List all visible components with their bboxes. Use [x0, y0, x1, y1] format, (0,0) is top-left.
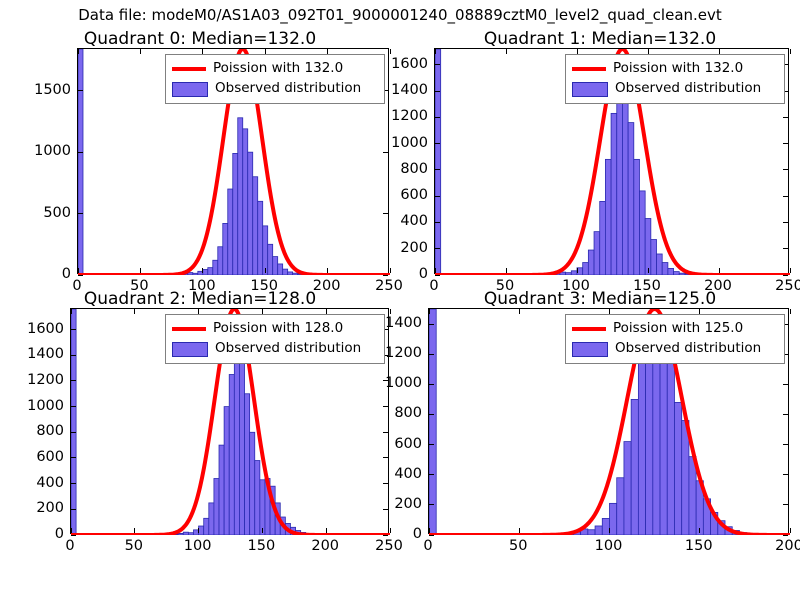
- y-tick-mark: [71, 483, 76, 484]
- x-tick-mark: [390, 309, 391, 314]
- histogram-bar: [651, 240, 657, 275]
- y-tick-mark: [783, 143, 788, 144]
- y-tick-label: 0: [370, 526, 422, 542]
- x-tick-label: 0: [72, 278, 81, 294]
- histogram-bar: [668, 268, 674, 275]
- y-tick-label: 1400: [12, 346, 64, 362]
- histogram-bar: [71, 309, 76, 535]
- histogram-bar: [577, 268, 583, 275]
- x-tick-mark: [506, 49, 507, 54]
- histogram-bar: [566, 273, 572, 275]
- y-tick-mark: [435, 64, 440, 65]
- y-tick-mark: [383, 483, 388, 484]
- y-tick-label: 1000: [12, 398, 64, 414]
- y-tick-mark: [71, 535, 76, 536]
- histogram-bar: [667, 347, 674, 535]
- histogram-bar: [610, 503, 617, 535]
- x-tick-mark: [577, 268, 578, 273]
- y-tick-mark: [78, 152, 83, 153]
- legend-entry-poisson: Poission with 132.0: [172, 59, 377, 79]
- x-tick-label: 150: [250, 278, 278, 294]
- legend-line-icon: [172, 62, 206, 76]
- legend-entry-observed: Observed distribution: [572, 339, 777, 359]
- histogram-bar: [288, 272, 293, 275]
- histogram-bar: [645, 219, 651, 276]
- histogram-bar: [188, 533, 193, 535]
- histogram-bar: [188, 273, 193, 275]
- legend-line-icon: [572, 322, 606, 336]
- x-tick-mark: [71, 309, 72, 314]
- y-tick-label: 200: [370, 496, 422, 512]
- histogram-bar: [223, 223, 228, 275]
- histogram-bar: [178, 533, 183, 535]
- x-tick-label: 50: [125, 538, 143, 554]
- y-tick-mark: [435, 143, 440, 144]
- legend-label-poisson: Poission with 132.0: [613, 62, 743, 76]
- y-tick-mark: [783, 196, 788, 197]
- histogram-bar: [243, 129, 248, 275]
- histogram-bar: [228, 189, 233, 275]
- x-tick-mark: [202, 268, 203, 273]
- legend-quadrant-3[interactable]: Poission with 125.0Observed distribution: [565, 314, 785, 364]
- histogram-bar: [600, 201, 606, 275]
- y-tick-mark: [429, 414, 434, 415]
- y-tick-label: 500: [19, 205, 71, 221]
- y-tick-label: 1600: [12, 321, 64, 337]
- x-tick-label: 200: [704, 278, 732, 294]
- y-tick-mark: [783, 444, 788, 445]
- x-tick-mark: [699, 528, 700, 533]
- histogram-bar: [679, 273, 685, 275]
- x-tick-mark: [790, 528, 791, 533]
- legend-quadrant-2[interactable]: Poission with 128.0Observed distribution: [165, 314, 385, 364]
- x-tick-mark: [134, 309, 135, 314]
- legend-entry-observed: Observed distribution: [172, 79, 377, 99]
- y-tick-mark: [435, 248, 440, 249]
- histogram-bar: [193, 273, 198, 275]
- y-tick-mark: [71, 406, 76, 407]
- histogram-bar: [255, 461, 260, 535]
- legend-line-icon: [572, 62, 606, 76]
- histogram-bar: [78, 49, 83, 275]
- y-tick-mark: [429, 354, 434, 355]
- y-tick-mark: [783, 474, 788, 475]
- x-tick-mark: [519, 528, 520, 533]
- y-tick-mark: [435, 196, 440, 197]
- x-tick-mark: [429, 309, 430, 314]
- y-tick-mark: [783, 384, 788, 385]
- legend-patch-icon: [172, 342, 208, 357]
- y-tick-mark: [435, 117, 440, 118]
- legend-patch-icon: [572, 342, 608, 357]
- histogram-bar: [239, 355, 244, 535]
- histogram-bar: [260, 480, 265, 535]
- histogram-bar: [634, 159, 640, 275]
- y-tick-mark: [71, 457, 76, 458]
- y-tick-label: 600: [376, 187, 428, 203]
- y-tick-label: 0: [19, 266, 71, 282]
- x-tick-label: 100: [562, 278, 590, 294]
- x-tick-mark: [390, 268, 391, 273]
- x-tick-mark: [262, 528, 263, 533]
- histogram-bar: [203, 269, 208, 275]
- x-tick-label: 200: [775, 538, 800, 554]
- y-tick-mark: [383, 432, 388, 433]
- x-tick-mark: [790, 309, 791, 314]
- x-tick-mark: [429, 528, 430, 533]
- histogram-bar: [617, 77, 623, 275]
- y-tick-label: 1500: [19, 82, 71, 98]
- y-tick-mark: [435, 91, 440, 92]
- x-tick-mark: [519, 309, 520, 314]
- histogram-bar: [214, 479, 219, 536]
- y-tick-mark: [383, 275, 388, 276]
- y-tick-mark: [783, 535, 788, 536]
- x-tick-mark: [506, 268, 507, 273]
- histogram-bar: [657, 254, 663, 275]
- x-tick-mark: [327, 268, 328, 273]
- x-tick-mark: [435, 49, 436, 54]
- legend-line-icon: [172, 322, 206, 336]
- x-tick-mark: [78, 268, 79, 273]
- x-tick-mark: [719, 268, 720, 273]
- histogram-bar: [588, 530, 595, 535]
- x-tick-label: 0: [65, 538, 74, 554]
- histogram-bar: [204, 518, 209, 535]
- y-tick-mark: [71, 329, 76, 330]
- histogram-bar: [638, 362, 645, 535]
- y-tick-label: 400: [12, 475, 64, 491]
- histogram-bar: [595, 526, 602, 535]
- y-tick-label: 800: [12, 423, 64, 439]
- x-tick-label: 50: [130, 278, 148, 294]
- y-tick-mark: [429, 324, 434, 325]
- y-tick-mark: [429, 535, 434, 536]
- histogram-bar: [639, 191, 645, 275]
- y-tick-label: 400: [376, 213, 428, 229]
- x-tick-mark: [648, 268, 649, 273]
- y-tick-label: 1000: [370, 375, 422, 391]
- y-tick-mark: [383, 509, 388, 510]
- x-tick-label: 150: [685, 538, 713, 554]
- x-tick-label: 200: [313, 278, 341, 294]
- x-tick-mark: [198, 528, 199, 533]
- x-tick-mark: [140, 268, 141, 273]
- histogram-bar: [682, 420, 689, 535]
- legend-label-observed: Observed distribution: [615, 342, 761, 356]
- y-tick-mark: [383, 406, 388, 407]
- y-tick-mark: [383, 535, 388, 536]
- y-tick-mark: [71, 355, 76, 356]
- y-tick-mark: [435, 169, 440, 170]
- y-tick-label: 1200: [12, 372, 64, 388]
- histogram-bar: [624, 442, 631, 535]
- y-tick-mark: [71, 509, 76, 510]
- y-tick-label: 200: [376, 240, 428, 256]
- x-tick-mark: [790, 49, 791, 54]
- histogram-bar: [605, 159, 611, 275]
- histogram-bar: [234, 350, 239, 535]
- x-tick-label: 0: [423, 538, 432, 554]
- histogram-bar: [183, 532, 188, 535]
- y-tick-mark: [429, 504, 434, 505]
- histogram-bar: [594, 232, 600, 275]
- legend-label-observed: Observed distribution: [215, 342, 361, 356]
- y-tick-mark: [783, 504, 788, 505]
- y-tick-mark: [783, 275, 788, 276]
- x-tick-label: 250: [775, 278, 800, 294]
- histogram-bar: [233, 153, 238, 275]
- histogram-bar: [248, 152, 253, 275]
- histogram-bar: [631, 399, 638, 535]
- histogram-bar: [611, 113, 617, 275]
- x-tick-label: 0: [429, 278, 438, 294]
- subplot-title-quadrant-3: Quadrant 3: Median=125.0: [400, 289, 800, 309]
- histogram-bar: [689, 457, 696, 535]
- y-tick-mark: [71, 432, 76, 433]
- x-tick-mark: [609, 528, 610, 533]
- y-tick-mark: [783, 117, 788, 118]
- histogram-bar: [617, 478, 624, 535]
- legend-entry-poisson: Poission with 132.0: [572, 59, 777, 79]
- y-tick-mark: [429, 474, 434, 475]
- histogram-bar: [674, 402, 681, 535]
- histogram-bar: [662, 263, 668, 275]
- y-tick-mark: [783, 248, 788, 249]
- histogram-bar: [293, 273, 298, 275]
- y-tick-mark: [435, 275, 440, 276]
- y-tick-label: 1000: [19, 143, 71, 159]
- x-tick-mark: [140, 49, 141, 54]
- y-tick-mark: [383, 457, 388, 458]
- histogram-bar: [268, 244, 273, 275]
- histogram-bar: [219, 445, 224, 535]
- histogram-bar: [283, 269, 288, 275]
- y-tick-label: 600: [370, 436, 422, 452]
- figure-suptitle: Data file: modeM0/AS1A03_092T01_90000012…: [0, 6, 800, 24]
- histogram-bar: [588, 250, 594, 275]
- y-tick-mark: [383, 152, 388, 153]
- x-tick-mark: [326, 528, 327, 533]
- legend-entry-observed: Observed distribution: [172, 339, 377, 359]
- histogram-bar: [628, 123, 634, 275]
- histogram-bar: [583, 263, 589, 275]
- x-tick-mark: [390, 528, 391, 533]
- x-tick-mark: [78, 49, 79, 54]
- legend-label-poisson: Poission with 132.0: [213, 62, 343, 76]
- figure-canvas: Data file: modeM0/AS1A03_092T01_90000012…: [0, 0, 800, 600]
- y-tick-mark: [78, 90, 83, 91]
- histogram-bar: [435, 49, 441, 275]
- histogram-bar: [273, 257, 278, 275]
- y-tick-mark: [783, 414, 788, 415]
- y-tick-label: 600: [12, 449, 64, 465]
- x-tick-label: 200: [311, 538, 339, 554]
- histogram-bar: [238, 118, 243, 275]
- legend-label-observed: Observed distribution: [215, 82, 361, 96]
- histogram-bar: [218, 247, 223, 275]
- histogram-bar: [258, 201, 263, 275]
- y-tick-mark: [429, 384, 434, 385]
- subplot-title-quadrant-1: Quadrant 1: Median=132.0: [400, 29, 800, 49]
- y-tick-mark: [783, 222, 788, 223]
- legend-entry-poisson: Poission with 128.0: [172, 319, 377, 339]
- legend-label-poisson: Poission with 128.0: [213, 322, 343, 336]
- legend-entry-observed: Observed distribution: [572, 79, 777, 99]
- x-tick-mark: [134, 528, 135, 533]
- histogram-bar: [224, 407, 229, 535]
- x-tick-mark: [71, 528, 72, 533]
- y-tick-mark: [71, 380, 76, 381]
- x-tick-label: 100: [595, 538, 623, 554]
- y-tick-label: 1200: [376, 108, 428, 124]
- legend-quadrant-0[interactable]: Poission with 132.0Observed distribution: [165, 54, 385, 104]
- histogram-bar: [199, 526, 204, 535]
- x-tick-label: 50: [509, 538, 527, 554]
- histogram-bar: [622, 88, 628, 275]
- y-tick-mark: [78, 213, 83, 214]
- x-tick-label: 150: [633, 278, 661, 294]
- y-tick-mark: [783, 169, 788, 170]
- y-tick-label: 200: [12, 500, 64, 516]
- legend-patch-icon: [172, 82, 208, 97]
- subplot-title-quadrant-0: Quadrant 0: Median=132.0: [0, 29, 400, 49]
- y-tick-mark: [429, 444, 434, 445]
- legend-label-observed: Observed distribution: [615, 82, 761, 96]
- legend-quadrant-1[interactable]: Poission with 132.0Observed distribution: [565, 54, 785, 104]
- histogram-bar: [674, 272, 680, 275]
- histogram-bar: [209, 503, 214, 535]
- histogram-bar: [250, 432, 255, 535]
- y-tick-mark: [78, 275, 83, 276]
- histogram-bar: [278, 264, 283, 275]
- x-tick-mark: [265, 268, 266, 273]
- y-tick-mark: [383, 380, 388, 381]
- x-tick-mark: [390, 49, 391, 54]
- y-tick-mark: [435, 222, 440, 223]
- legend-patch-icon: [572, 82, 608, 97]
- x-tick-label: 100: [188, 278, 216, 294]
- x-tick-label: 50: [496, 278, 514, 294]
- y-tick-label: 1000: [376, 135, 428, 151]
- y-tick-label: 400: [370, 466, 422, 482]
- histogram-bar: [208, 268, 213, 275]
- histogram-bar: [253, 177, 258, 275]
- x-tick-label: 100: [184, 538, 212, 554]
- y-tick-label: 800: [376, 161, 428, 177]
- x-tick-mark: [790, 268, 791, 273]
- histogram-bar: [213, 260, 218, 275]
- x-tick-mark: [435, 268, 436, 273]
- y-tick-label: 800: [370, 405, 422, 421]
- x-tick-label: 150: [248, 538, 276, 554]
- histogram-bar: [229, 374, 234, 535]
- y-tick-label: 0: [12, 526, 64, 542]
- y-tick-mark: [383, 213, 388, 214]
- legend-entry-poisson: Poission with 125.0: [572, 319, 777, 339]
- histogram-bar: [245, 394, 250, 535]
- histogram-bar: [429, 309, 436, 535]
- legend-label-poisson: Poission with 125.0: [613, 322, 743, 336]
